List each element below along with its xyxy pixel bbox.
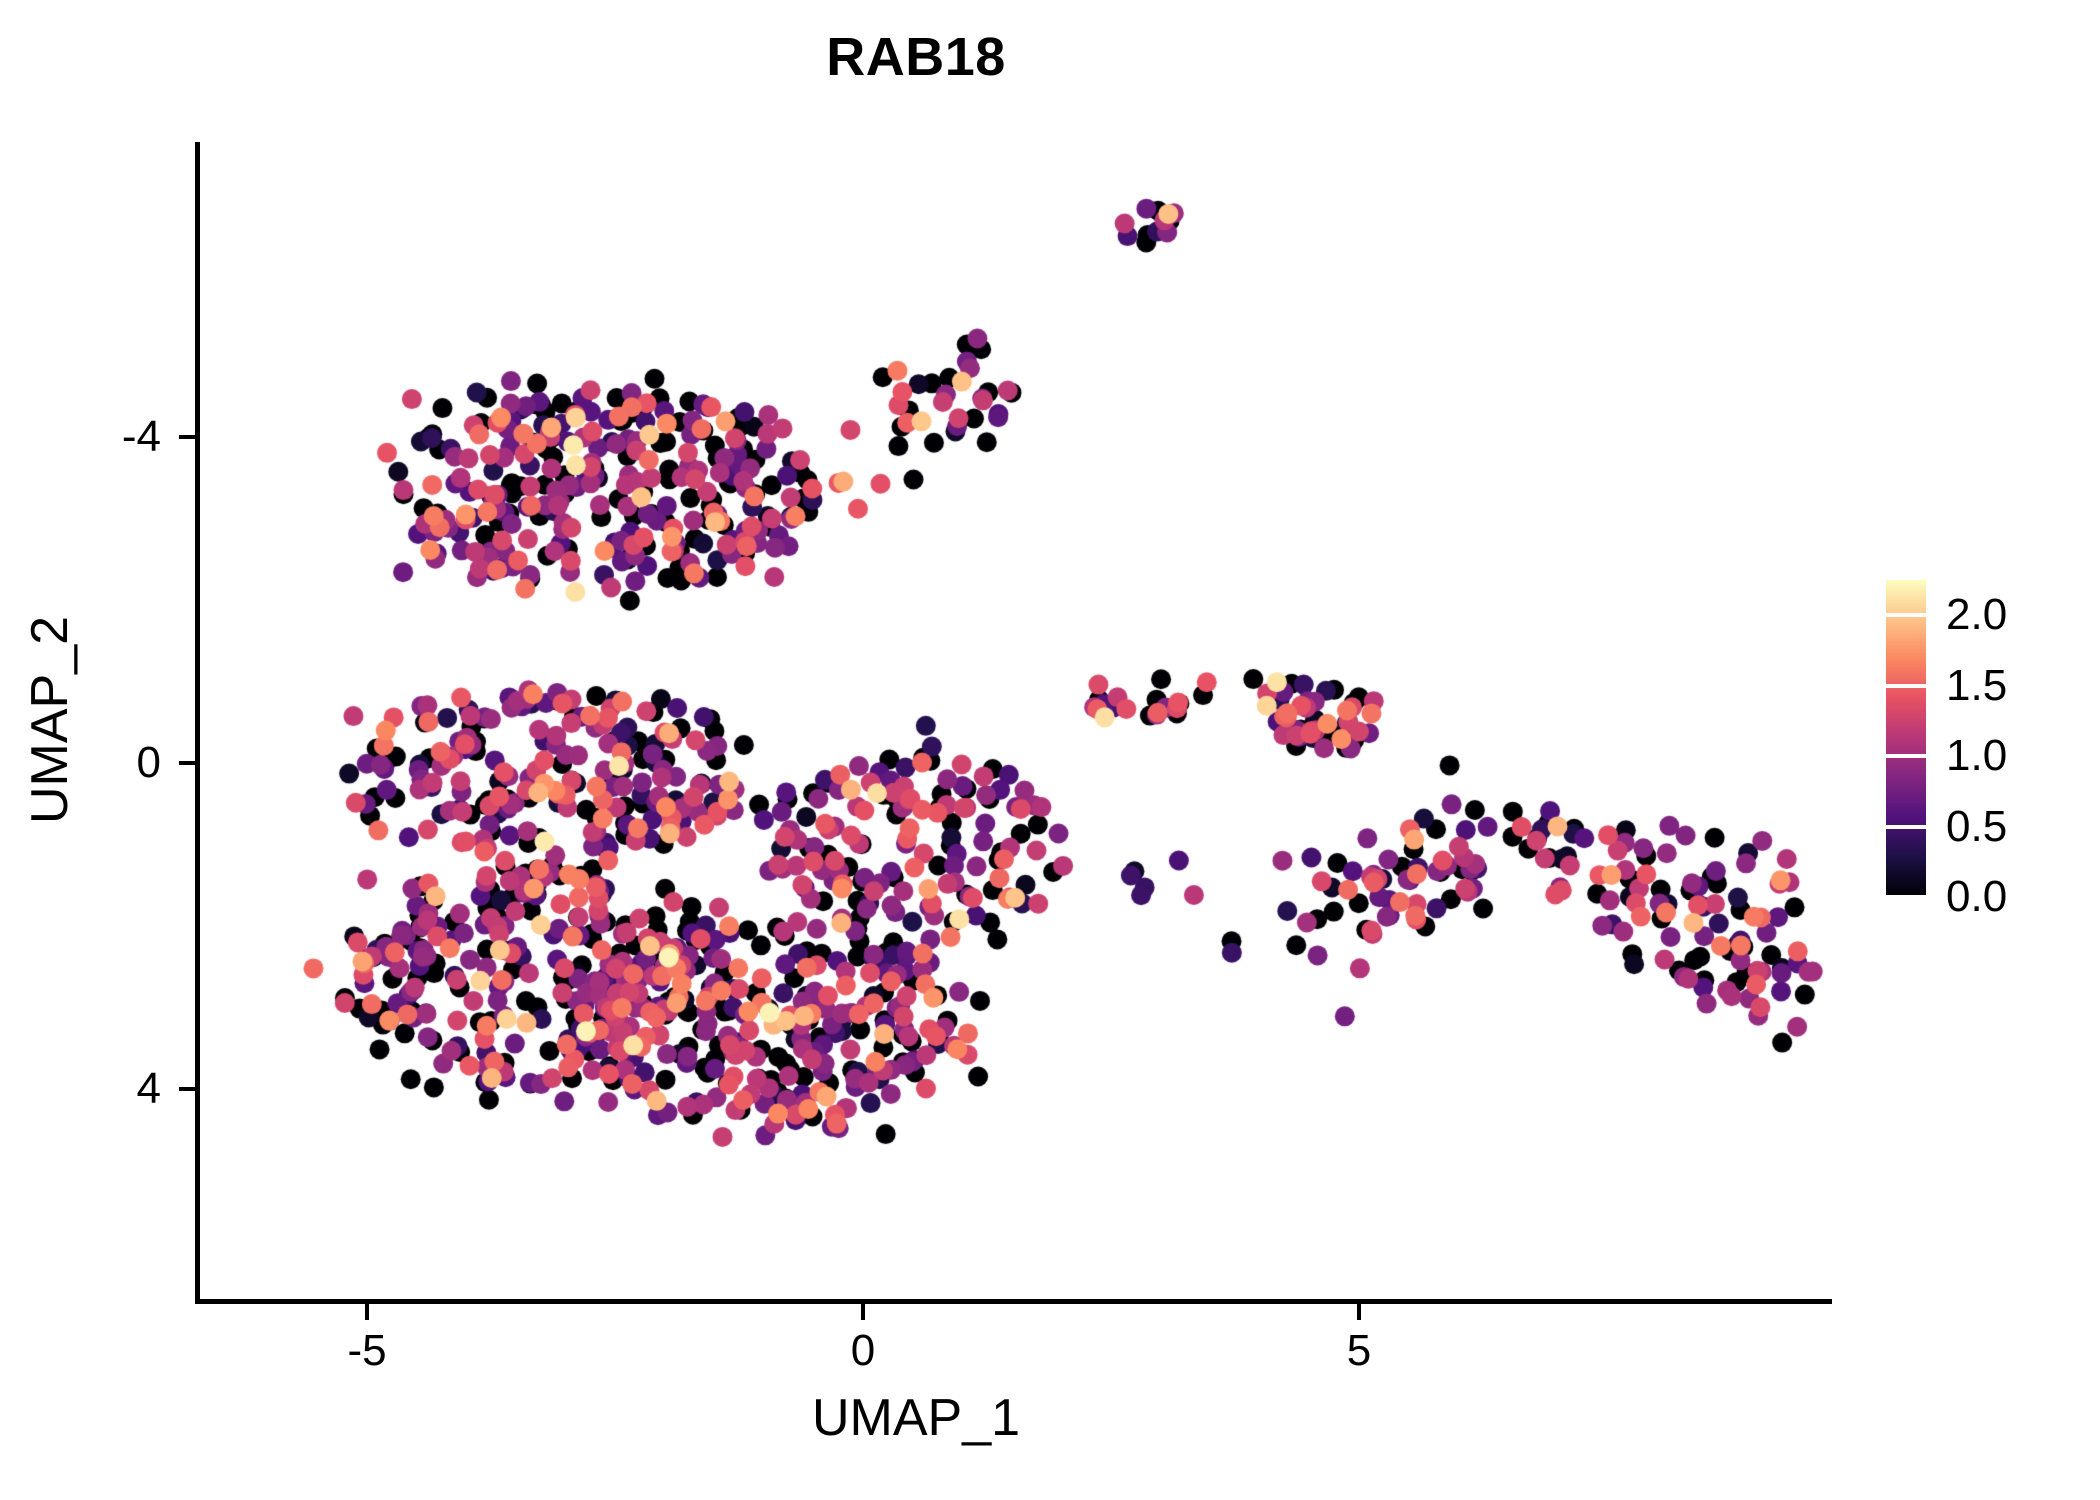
scatter-plot-canvas — [0, 0, 2100, 1500]
colorbar-gradient — [1886, 580, 1926, 897]
x-axis-tick-label: 5 — [1347, 1326, 1371, 1376]
x-axis-tick-label: -5 — [347, 1326, 386, 1376]
x-axis-tick-mark — [365, 1304, 369, 1320]
colorbar-tick-label: 0.5 — [1946, 802, 2007, 852]
y-axis-tick-mark — [179, 435, 195, 439]
colorbar-tick-label: 1.0 — [1946, 731, 2007, 781]
chart-root: RAB18 4 0 -4 -5 0 5 UMAP_1 UMAP_2 2.0 1.… — [0, 0, 2100, 1500]
x-axis-tick-mark — [1357, 1304, 1361, 1320]
x-axis-line — [195, 1299, 1832, 1304]
colorbar-tick-label: 2.0 — [1946, 590, 2007, 640]
y-axis-line — [195, 142, 200, 1304]
colorbar-tick-label: 0.0 — [1946, 872, 2007, 922]
y-axis-tick-label: -4 — [1, 412, 161, 462]
y-axis-tick-label: 4 — [1, 1064, 161, 1114]
x-axis-tick-mark — [861, 1304, 865, 1320]
y-axis-title: UMAP_2 — [20, 560, 80, 880]
color-legend: 2.0 1.5 1.0 0.5 0.0 — [1886, 580, 2086, 900]
y-axis-tick-mark — [179, 1087, 195, 1091]
y-axis-tick-mark — [179, 761, 195, 765]
colorbar-tick-label: 1.5 — [1946, 661, 2007, 711]
x-axis-title: UMAP_1 — [0, 1388, 1832, 1448]
x-axis-tick-label: 0 — [851, 1326, 875, 1376]
